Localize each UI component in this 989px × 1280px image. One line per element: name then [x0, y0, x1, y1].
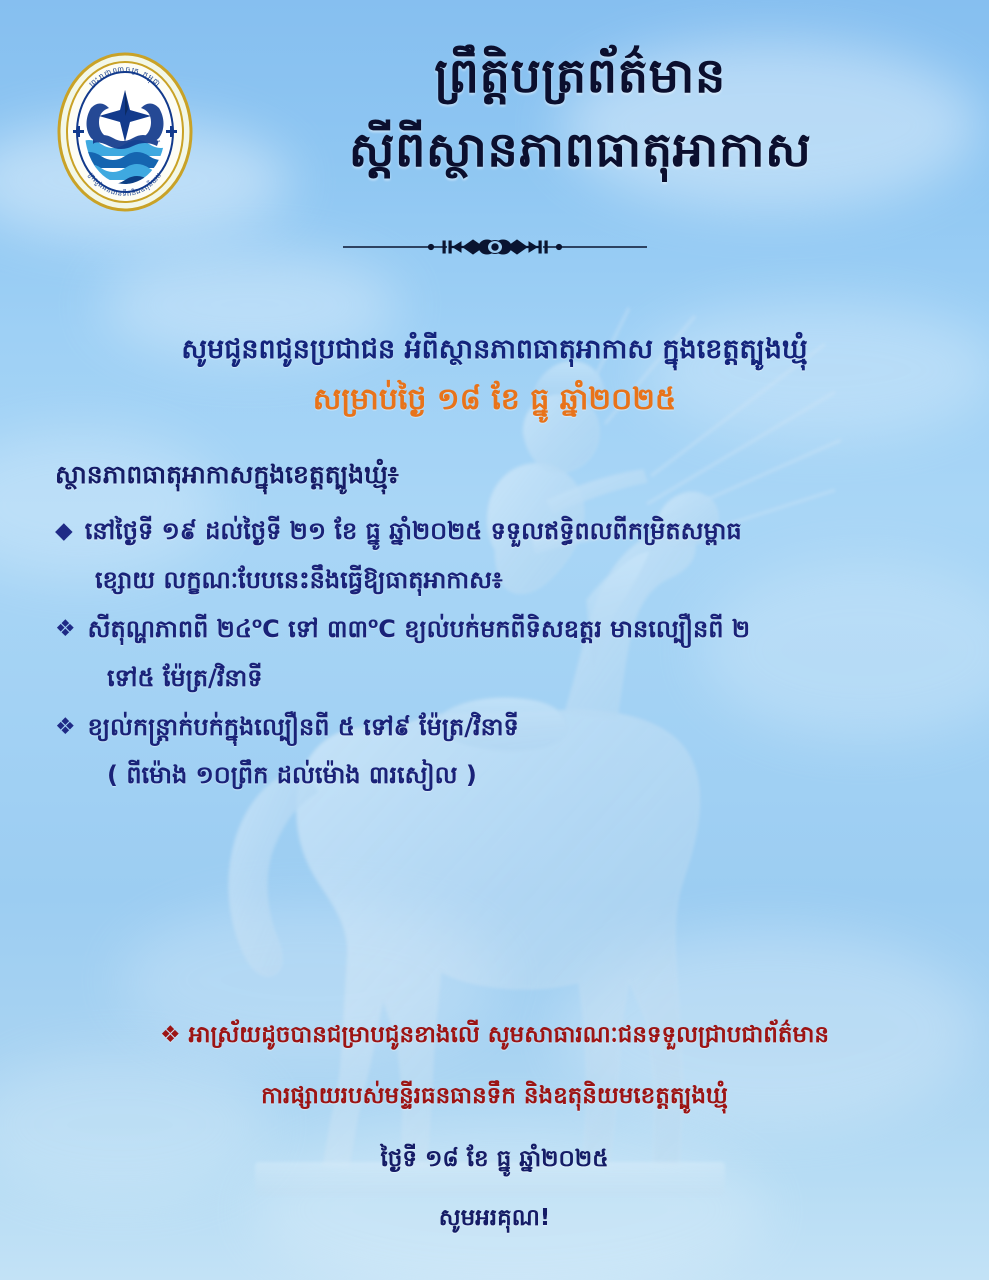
poster-title-block: ព្រឹត្តិបត្រព័ត៌មាន ស្តីពីស្ថានភាពធាតុអា… [230, 46, 930, 180]
bullet-text-line-2: ខ្សោយ លក្ខណៈបែបនេះនឹងធ្វើឱ្យធាតុអាកាស៖ [55, 561, 945, 600]
poster-title-line-1: ព្រឹត្តិបត្រព័ត៌មាន [230, 46, 930, 106]
footer-line-2: ការផ្សាយរបស់មន្ទីរធនធានទឹក និងឧតុនិយមខេត… [0, 1079, 989, 1114]
bullet-text-line-2: ទៅ៥ ម៉ែត្រ/វិនាទី [55, 659, 945, 698]
degree-symbol-1: o [252, 614, 262, 632]
temperature-text-part-2: C ទៅ ៣៣ [262, 615, 368, 643]
intro-block: សូមជូនពជូនប្រជាជន អំពីស្ថានភាពធាតុអាកាស … [0, 332, 989, 419]
bullet-text-line-1: ខ្យល់កន្ត្រាក់បក់ក្នុងល្បឿនពី ៥ ទៅ៩ ម៉ែត… [88, 708, 945, 747]
footer-thanks-line: សូមអរគុណ! [0, 1202, 989, 1235]
poster-footer: ❖ អាស្រ័យដូចបានជម្រាបជូនខាងលើ សូមសាធារណៈ… [0, 1018, 989, 1236]
ornamental-rule-icon [335, 236, 655, 258]
bulletin-body: ស្ថានភាពធាតុអាកាសក្នុងខេត្តត្បូងឃ្មុំ៖ ◆… [55, 460, 945, 805]
bullet-text-line-2: ( ពីម៉ោង ១០ព្រឹក ដល់ម៉ោង ៣រសៀល ) [55, 756, 945, 795]
bullet-item: ◆ នៅថ្ងៃទី ១៩ ដល់ថ្ងៃទី ២១ ខែ ធ្នូ ឆ្នាំ… [55, 512, 945, 551]
ministry-emblem-logo: ព្រះរាជាណាចក្រ កម្ពុជា ក្រសួងធនធានទឹកនិង… [55, 52, 195, 212]
intro-date-line: សម្រាប់ថ្ងៃ ១៨ ខែ ធ្នូ ឆ្នាំ២០២៥ [0, 380, 989, 419]
ornamental-divider [0, 232, 989, 262]
poster-header: ព្រះរាជាណាចក្រ កម្ពុជា ក្រសួងធនធានទឹកនិង… [0, 0, 989, 225]
floral-bullet-icon: ❖ [55, 610, 76, 647]
bullet-text-line-1: នៅថ្ងៃទី ១៩ ដល់ថ្ងៃទី ២១ ខែ ធ្នូ ឆ្នាំ២០… [85, 512, 945, 551]
footer-date-line: ថ្ងៃទី ១៨ ខែ ធ្នូ ឆ្នាំ២០២៥ [0, 1143, 989, 1176]
weather-bulletin-poster: ព្រះរាជាណាចក្រ កម្ពុជា ក្រសួងធនធានទឹកនិង… [0, 0, 989, 1280]
bullet-item: ❖ ខ្យល់កន្ត្រាក់បក់ក្នុងល្បឿនពី ៥ ទៅ៩ ម៉… [55, 708, 945, 747]
body-heading: ស្ថានភាពធាតុអាកាសក្នុងខេត្តត្បូងឃ្មុំ៖ [55, 460, 945, 496]
diamond-bullet-icon: ◆ [55, 512, 73, 549]
footer-line-1: ❖ អាស្រ័យដូចបានជម្រាបជូនខាងលើ សូមសាធារណៈ… [0, 1018, 989, 1053]
degree-symbol-2: o [368, 614, 378, 632]
temperature-text-part-3: C ខ្យល់បក់មកពីទិសឧត្តរ មានល្បឿនពី ២ [378, 615, 750, 643]
bullet-item: ❖ សីតុណ្ហភាពពី ២៤oC ទៅ ៣៣oC ខ្យល់បក់មកពី… [55, 610, 945, 649]
poster-title-line-2: ស្តីពីស្ថានភាពធាតុអាកាស [230, 120, 930, 180]
bullet-text-line-1: សីតុណ្ហភាពពី ២៤oC ទៅ ៣៣oC ខ្យល់បក់មកពីទិ… [88, 610, 945, 649]
intro-line-1: សូមជូនពជូនប្រជាជន អំពីស្ថានភាពធាតុអាកាស … [0, 332, 989, 368]
floral-bullet-icon: ❖ [55, 708, 76, 745]
temperature-text-part-1: សីតុណ្ហភាពពី ២៤ [88, 615, 252, 643]
